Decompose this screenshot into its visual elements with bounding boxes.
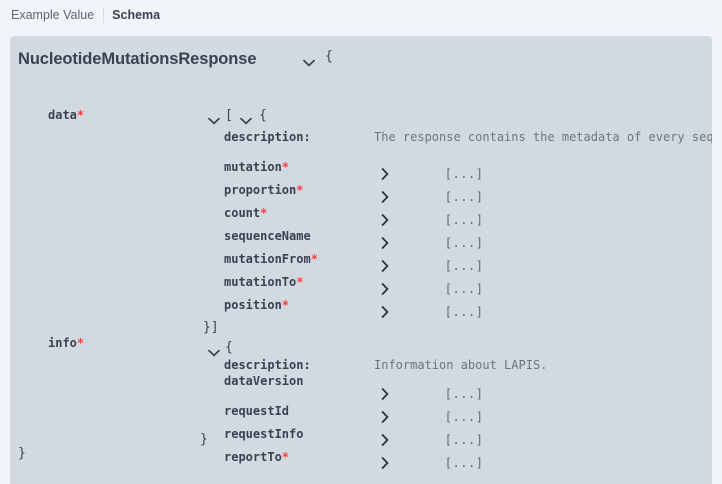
chevron-right-icon[interactable] — [381, 168, 439, 180]
info-object-close-brace: } — [200, 432, 208, 447]
schema-panel: NucleotideMutationsResponse { data* [ { … — [10, 36, 712, 484]
field-sequencename: sequenceName — [224, 229, 311, 243]
field-reportto: reportTo* — [224, 450, 289, 464]
data-array-open-bracket: [ — [225, 108, 233, 123]
chevron-right-icon[interactable] — [381, 388, 439, 400]
collapsed-value-label: [...] — [445, 305, 484, 319]
field-proportion: proportion* — [224, 183, 303, 197]
chevron-right-icon[interactable] — [381, 283, 439, 295]
data-item-open-brace: { — [259, 108, 267, 123]
collapsed-value-label: [...] — [445, 456, 484, 470]
field-mutation-label: mutation — [224, 160, 282, 174]
property-data-label: data — [48, 108, 77, 122]
schema-tabbar: Example Value Schema — [0, 0, 722, 30]
property-info: info* — [48, 336, 84, 350]
field-requestid-label: requestId — [224, 404, 289, 418]
required-marker: * — [77, 108, 84, 122]
field-mutationfrom: mutationFrom* — [224, 252, 318, 266]
field-mutationto: mutationTo* — [224, 275, 303, 289]
chevron-right-icon[interactable] — [381, 191, 439, 203]
field-position-label: position — [224, 298, 282, 312]
chevron-right-icon[interactable] — [381, 457, 439, 469]
collapsed-value-mutationfrom[interactable]: [...] — [381, 259, 483, 273]
property-info-label: info — [48, 336, 77, 350]
chevron-right-icon[interactable] — [381, 411, 439, 423]
collapsed-value-requestinfo[interactable]: [...] — [381, 433, 483, 447]
field-requestinfo: requestInfo — [224, 427, 303, 441]
collapsed-value-label: [...] — [445, 213, 484, 227]
collapsed-value-requestid[interactable]: [...] — [381, 410, 483, 424]
collapsed-value-proportion[interactable]: [...] — [381, 190, 483, 204]
info-description-value: Information about LAPIS. — [374, 358, 704, 373]
field-sequencename-label: sequenceName — [224, 229, 311, 243]
info-object-open-brace: { — [225, 340, 233, 355]
field-dataversion-label: dataVersion — [224, 374, 303, 388]
field-mutation: mutation* — [224, 160, 289, 174]
chevron-right-icon[interactable] — [381, 306, 439, 318]
required-marker: * — [282, 450, 289, 464]
field-position: position* — [224, 298, 289, 312]
required-marker: * — [77, 336, 84, 350]
field-reportto-label: reportTo — [224, 450, 282, 464]
schema-model-title: NucleotideMutationsResponse — [18, 50, 256, 69]
required-marker: * — [282, 298, 289, 312]
field-dataversion: dataVersion — [224, 374, 303, 388]
collapsed-value-label: [...] — [445, 410, 484, 424]
collapsed-value-label: [...] — [445, 167, 484, 181]
required-marker: * — [296, 183, 303, 197]
root-open-brace: { — [325, 49, 333, 64]
required-marker: * — [311, 252, 318, 266]
info-description-key: description: — [224, 358, 311, 372]
collapsed-value-dataversion[interactable]: [...] — [381, 387, 483, 401]
required-marker: * — [282, 160, 289, 174]
collapsed-value-mutation[interactable]: [...] — [381, 167, 483, 181]
collapsed-value-label: [...] — [445, 190, 484, 204]
field-count-label: count — [224, 206, 260, 220]
collapsed-value-count[interactable]: [...] — [381, 213, 483, 227]
data-array-close: }] — [203, 320, 219, 335]
required-marker: * — [260, 206, 267, 220]
data-description-value: The response contains the metadata of ev… — [374, 130, 712, 145]
field-requestinfo-label: requestInfo — [224, 427, 303, 441]
tab-example-value[interactable]: Example Value — [3, 7, 103, 23]
collapsed-value-reportto[interactable]: [...] — [381, 456, 483, 470]
collapsed-value-label: [...] — [445, 387, 484, 401]
collapsed-value-label: [...] — [445, 282, 484, 296]
field-requestid: requestId — [224, 404, 289, 418]
collapsed-value-sequencename[interactable]: [...] — [381, 236, 483, 250]
field-count: count* — [224, 206, 267, 220]
chevron-right-icon[interactable] — [381, 434, 439, 446]
field-proportion-label: proportion — [224, 183, 296, 197]
collapsed-value-mutationto[interactable]: [...] — [381, 282, 483, 296]
chevron-right-icon[interactable] — [381, 237, 439, 249]
chevron-right-icon[interactable] — [381, 260, 439, 272]
root-close-brace: } — [18, 446, 26, 461]
chevron-right-icon[interactable] — [381, 214, 439, 226]
collapsed-value-label: [...] — [445, 433, 484, 447]
collapsed-value-position[interactable]: [...] — [381, 305, 483, 319]
data-description-key: description: — [224, 130, 311, 144]
schema-tree: NucleotideMutationsResponse { data* [ { … — [10, 36, 712, 484]
tab-schema[interactable]: Schema — [104, 7, 169, 23]
required-marker: * — [296, 275, 303, 289]
field-mutationto-label: mutationTo — [224, 275, 296, 289]
property-data: data* — [48, 108, 84, 122]
field-mutationfrom-label: mutationFrom — [224, 252, 311, 266]
collapsed-value-label: [...] — [445, 236, 484, 250]
collapsed-value-label: [...] — [445, 259, 484, 273]
